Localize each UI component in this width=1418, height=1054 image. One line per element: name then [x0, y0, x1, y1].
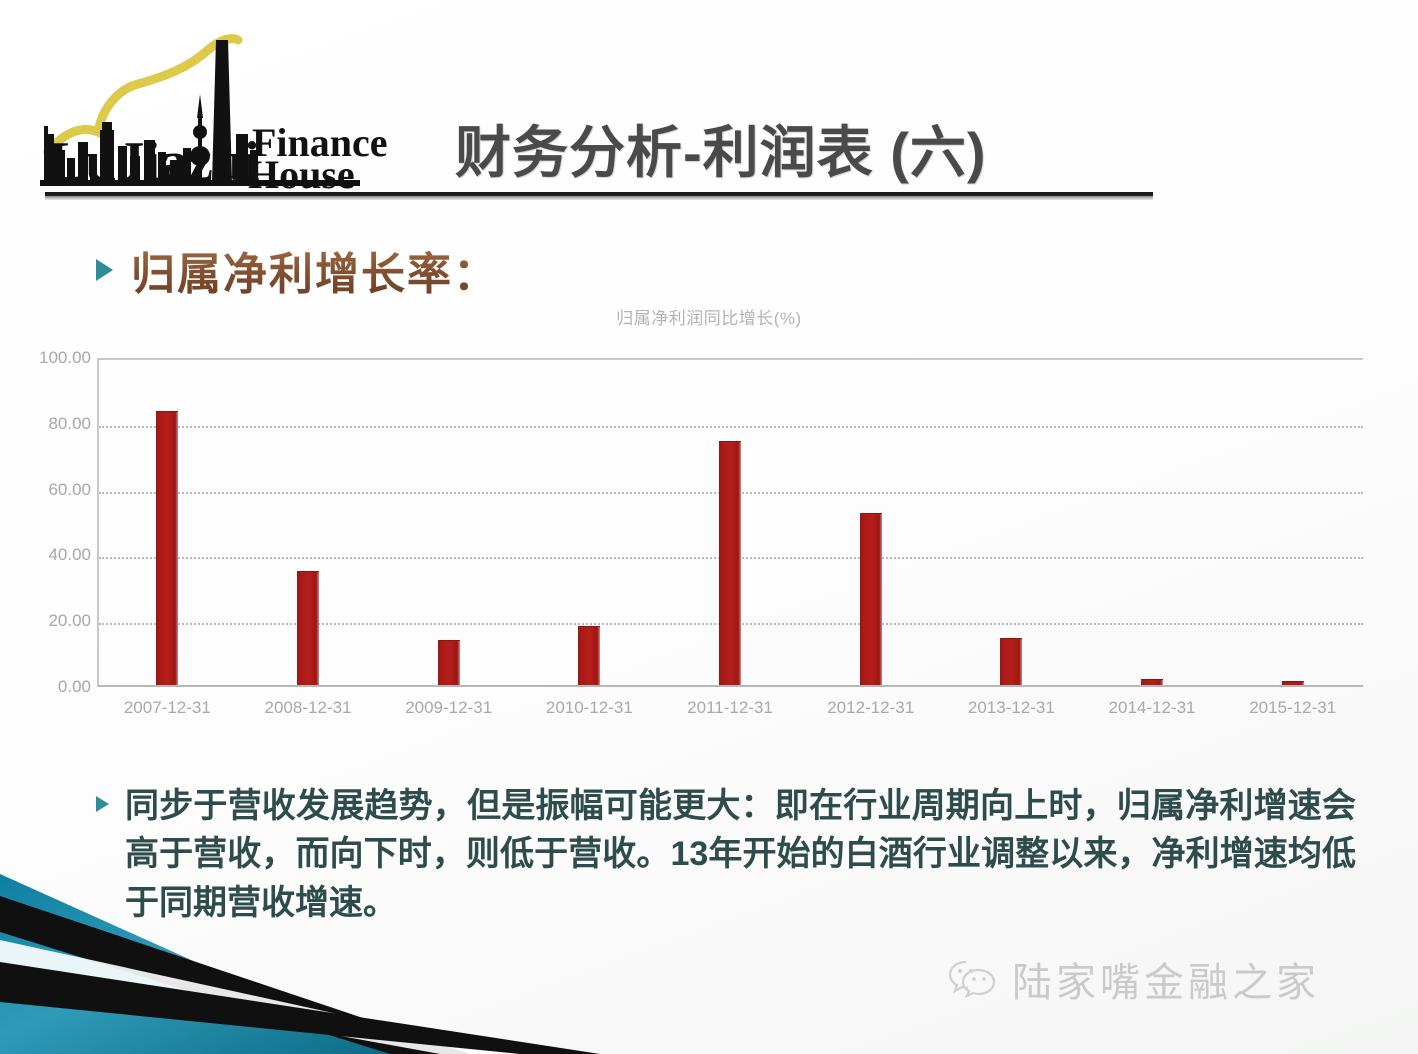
section-heading-label: 归属净利增长率： [131, 238, 499, 302]
watermark-text: 陆家嘴金融之家 [1012, 950, 1320, 1008]
chart-bar [1141, 679, 1163, 685]
chart-bar [719, 441, 741, 685]
chart-bar-slot: 2012-12-31 [800, 358, 941, 685]
slide-canvas: LuJiazui Finance House 财务分析-利润表 (六) 归属净利… [0, 0, 1418, 1054]
x-axis-tick-label: 2012-12-31 [800, 698, 941, 718]
y-axis-tick-label: 40.00 [11, 545, 91, 565]
chart-bar [297, 571, 319, 686]
watermark: 陆家嘴金融之家 [948, 950, 1320, 1008]
x-axis-tick-label: 2015-12-31 [1222, 698, 1363, 718]
chart-bars-container: 2007-12-312008-12-312009-12-312010-12-31… [97, 358, 1363, 685]
section-heading: 归属净利增长率： [96, 238, 499, 302]
x-axis-tick-label: 2013-12-31 [941, 698, 1082, 718]
triangle-right-icon [96, 796, 109, 812]
y-axis-tick-label: 20.00 [11, 611, 91, 631]
y-axis-tick-label: 80.00 [11, 414, 91, 434]
chart-bar [438, 640, 460, 685]
growth-rate-bar-chart: 归属净利润同比增长(%) 2007-12-312008-12-312009-12… [0, 300, 1418, 730]
chart-bar [1282, 681, 1304, 685]
x-axis-tick-label: 2010-12-31 [519, 698, 660, 718]
x-axis-tick-label: 2008-12-31 [238, 698, 379, 718]
chart-bar-slot: 2014-12-31 [1082, 358, 1223, 685]
chart-bar [578, 626, 600, 685]
lujiazui-finance-house-logo: LuJiazui Finance House [40, 22, 440, 202]
chart-bar-slot: 2008-12-31 [238, 358, 379, 685]
chart-bar-slot: 2013-12-31 [941, 358, 1082, 685]
logo-line2: House [248, 152, 355, 197]
chart-bar [1000, 638, 1022, 685]
y-axis-tick-label: 100.00 [11, 348, 91, 368]
chart-bar [156, 411, 178, 685]
chart-bar-slot: 2015-12-31 [1222, 358, 1363, 685]
analysis-note: 同步于营收发展趋势，但是振幅可能更大：即在行业周期向上时，归属净利增速会高于营收… [96, 782, 1356, 927]
chart-bar-slot: 2007-12-31 [97, 358, 238, 685]
analysis-note-text: 同步于营收发展趋势，但是振幅可能更大：即在行业周期向上时，归属净利增速会高于营收… [125, 782, 1356, 927]
title-underline-rule [45, 192, 1153, 200]
x-axis-tick-label: 2009-12-31 [378, 698, 519, 718]
y-axis-tick-label: 0.00 [11, 677, 91, 697]
x-axis-tick-label: 2007-12-31 [97, 698, 238, 718]
wechat-icon [948, 956, 996, 1003]
x-axis-tick-label: 2014-12-31 [1082, 698, 1223, 718]
x-axis-tick-label: 2011-12-31 [660, 698, 801, 718]
chart-bar-slot: 2009-12-31 [378, 358, 519, 685]
chart-title: 归属净利润同比增长(%) [0, 304, 1418, 329]
svg-text:LuJiazui: LuJiazui [48, 131, 260, 193]
y-axis-tick-label: 60.00 [11, 480, 91, 500]
chart-bar-slot: 2010-12-31 [519, 358, 660, 685]
chart-bar-slot: 2011-12-31 [660, 358, 801, 685]
chart-bar [860, 513, 882, 685]
triangle-right-icon [96, 259, 113, 281]
page-title: 财务分析-利润表 (六) [455, 108, 987, 189]
